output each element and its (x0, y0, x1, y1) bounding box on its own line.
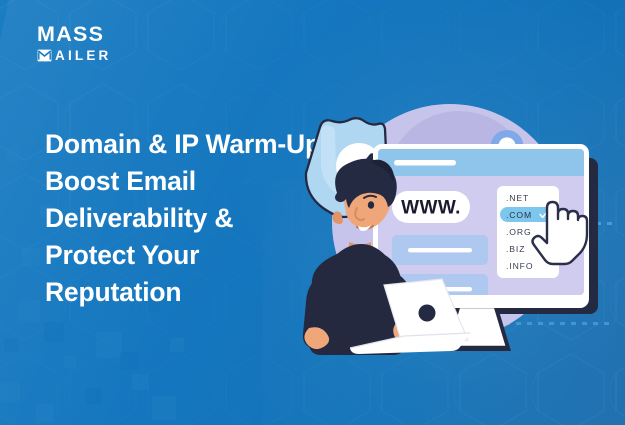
address-bar-placeholder (394, 160, 456, 166)
brand-logo[interactable]: MASS AILER (37, 24, 112, 62)
form-row-1[interactable] (392, 235, 488, 265)
tld-option-com[interactable]: .COM (506, 210, 532, 220)
tld-option-org[interactable]: .ORG (506, 227, 532, 237)
logo-text-mass: MASS (37, 24, 112, 46)
www-label: WWW. (401, 198, 461, 219)
tld-option-net[interactable]: .NET (506, 193, 529, 203)
www-search-field[interactable]: WWW. (392, 191, 470, 223)
tld-option-biz[interactable]: .BIZ (506, 244, 525, 254)
hero-illustration: WWW. .N (275, 72, 625, 372)
domain-registration-illustration: WWW. .N (275, 72, 625, 372)
tld-option-info[interactable]: .INFO (506, 261, 533, 271)
envelope-m-icon (37, 49, 52, 62)
marketing-banner: MASS AILER Domain & IP Warm-Up: Boost Em… (0, 0, 625, 425)
logo-text-mailer: AILER (55, 49, 112, 63)
